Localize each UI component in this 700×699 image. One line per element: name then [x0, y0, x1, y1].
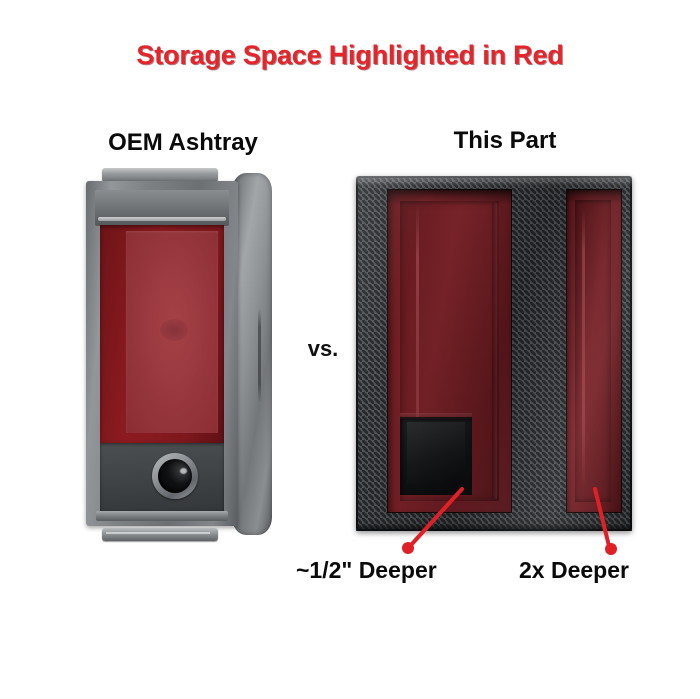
- side-slot-top-shadow: [566, 189, 622, 204]
- side-slot-floor: [575, 200, 611, 502]
- oem-handle-groove: [258, 308, 261, 403]
- versus-separator: vs.: [293, 336, 353, 362]
- carbon-fiber-tray-photo: [356, 176, 632, 531]
- oem-lid-top-bar: [102, 168, 218, 182]
- oem-inset-shading: [160, 319, 188, 341]
- oem-red-inset-panel: [126, 231, 218, 433]
- oem-ashtray-photo: [86, 168, 272, 543]
- tray-top-edge: [356, 176, 632, 187]
- oem-lid-bottom-bar: [102, 528, 218, 541]
- narrow-side-slot: [566, 189, 622, 513]
- page-title: Storage Space Highlighted in Red: [0, 40, 700, 71]
- socket-highlight: [180, 468, 187, 474]
- side-slot-highlight: [582, 209, 585, 491]
- oem-ashtray-body: [86, 181, 238, 526]
- oem-handle-column: [232, 173, 272, 535]
- notch-lip: [400, 413, 472, 419]
- callout-label-half-inch: ~1/2" Deeper: [296, 557, 437, 584]
- oem-bottom-shelf: [96, 511, 228, 521]
- cigarette-lighter-socket: [152, 453, 198, 499]
- oem-rim-highlight: [98, 217, 226, 221]
- dark-cutout-notch: [400, 417, 472, 495]
- main-bin-highlight-right: [492, 203, 497, 499]
- oem-red-cavity: [100, 225, 224, 443]
- callout-label-2x: 2x Deeper: [519, 557, 629, 584]
- oem-lower-panel: [100, 443, 224, 511]
- tray-bottom-edge: [356, 522, 632, 531]
- main-storage-bin: [387, 189, 512, 513]
- main-bin-top-shadow: [387, 189, 512, 205]
- socket-hole: [158, 459, 192, 493]
- leader-dot-main-bin: [402, 542, 414, 554]
- leader-dot-side-slot: [605, 543, 617, 555]
- oem-ashtray-header: OEM Ashtray: [88, 129, 278, 157]
- this-part-header: This Part: [400, 127, 610, 155]
- notch-inner-wall: [407, 422, 465, 484]
